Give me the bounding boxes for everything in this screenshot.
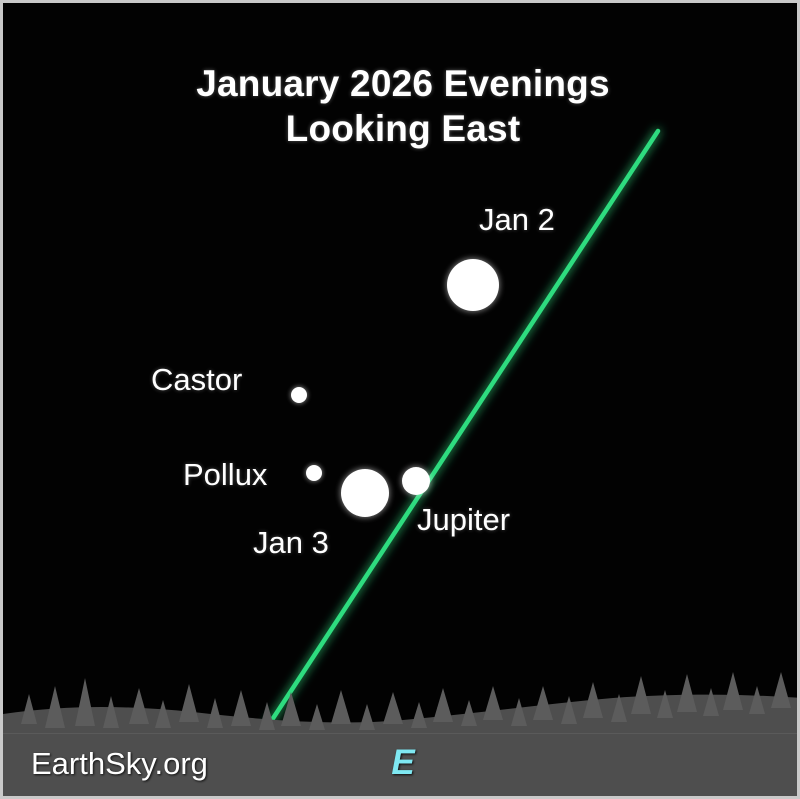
planet-jupiter-disk (402, 467, 430, 495)
label-castor: Castor (151, 363, 242, 397)
label-jupiter: Jupiter (417, 503, 510, 537)
label-jan3: Jan 3 (253, 526, 329, 560)
footer-bar: EarthSky.org E (3, 733, 800, 796)
direction-marker-east: E (3, 742, 800, 784)
star-castor-dot (291, 387, 307, 403)
sky-chart: January 2026 Evenings Looking East Jan 2… (0, 0, 800, 799)
chart-title: January 2026 Evenings Looking East (3, 61, 800, 151)
moon-jan3-disk (341, 469, 389, 517)
star-pollux-dot (306, 465, 322, 481)
label-jan2: Jan 2 (479, 203, 555, 237)
moon-jan2-disk (447, 259, 499, 311)
chart-title-line-2: Looking East (3, 106, 800, 151)
label-pollux: Pollux (183, 458, 267, 492)
chart-title-line-1: January 2026 Evenings (3, 61, 800, 106)
